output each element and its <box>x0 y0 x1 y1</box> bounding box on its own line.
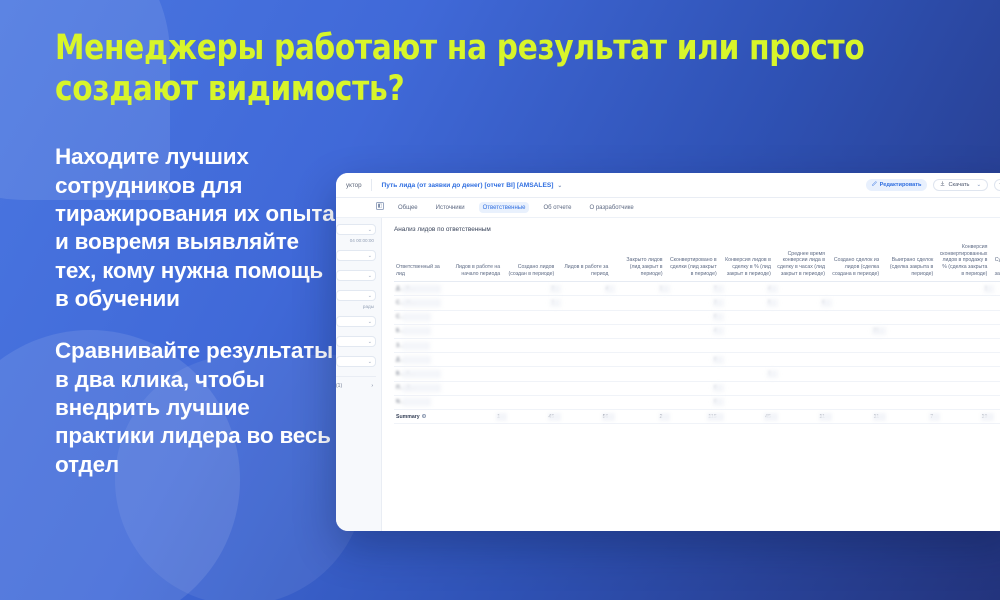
cell-metric <box>558 395 612 409</box>
sidebar-expand-label: (1) <box>336 383 342 389</box>
cell-metric <box>612 339 666 353</box>
cell-metric <box>775 310 829 324</box>
column-header-responsible[interactable]: Ответственный за лид <box>394 244 450 282</box>
cell-responsible: N… <box>394 395 450 409</box>
cell-metric <box>450 282 504 296</box>
column-header-won-sum[interactable]: Сумма выигранных сделок (сделка закрыта … <box>991 244 1000 282</box>
cell-responsible: Д… В… <box>394 282 450 296</box>
summary-row: Summaryi14556211545111171934 <box>394 409 1000 423</box>
cell-metric: 7 <box>667 282 721 296</box>
cell-metric: 3 <box>504 282 558 296</box>
cell-metric <box>829 296 883 310</box>
cell-metric <box>883 367 937 381</box>
filter-select-4[interactable]: ⌄ <box>336 290 376 301</box>
cell-metric <box>883 310 937 324</box>
cell-metric <box>775 324 829 338</box>
cell-metric <box>612 296 666 310</box>
cell-metric <box>829 353 883 367</box>
cell-metric <box>829 381 883 395</box>
column-header-leads-in-work[interactable]: Лидов в работе за период <box>558 244 612 282</box>
table-row[interactable]: Д… В…341741 <box>394 282 1000 296</box>
column-header-leads-start[interactable]: Лидов в работе на начало периода <box>450 244 504 282</box>
promo-paragraph-1: Находите лучших сотрудников для тиражиро… <box>55 143 337 313</box>
cell-metric: 5 <box>721 296 775 310</box>
app-screenshot-panel: уктор Путь лида (от заявки до денег) [от… <box>336 173 1000 531</box>
cell-metric <box>883 381 937 395</box>
table-body: Д… В…341741С… Н…1356224С…0Б…421З…1Д…0В… … <box>394 282 1000 424</box>
cell-metric: 1 <box>504 296 558 310</box>
cell-metric <box>612 367 666 381</box>
promo-paragraph-2: Сравнивайте результаты в два клика, чтоб… <box>55 337 337 479</box>
cell-metric <box>937 353 991 367</box>
constructor-label[interactable]: уктор <box>336 182 371 189</box>
filter-select-3[interactable]: ⌄ <box>336 270 376 281</box>
tab-o-razrabotchike[interactable]: О разработчике <box>585 202 637 213</box>
cell-metric: 0 <box>667 353 721 367</box>
app-tabbar: ◧ Общее Источники Ответственные Об отчет… <box>336 198 1000 218</box>
filter-select-1[interactable]: ⌄ <box>336 224 376 235</box>
table-row[interactable]: П… Д…0 <box>394 381 1000 395</box>
table-header-row: Ответственный за лид Лидов в работе на н… <box>394 244 1000 282</box>
topbar-actions: Редактировать Скачать ⌄ <box>866 179 1000 191</box>
cell-metric <box>883 296 937 310</box>
tab-otvetstvennye[interactable]: Ответственные <box>479 202 530 213</box>
cell-metric <box>829 339 883 353</box>
cell-metric <box>775 381 829 395</box>
cell-responsible: С… Н… <box>394 296 450 310</box>
cell-metric: 21 <box>829 324 883 338</box>
cell-metric <box>504 395 558 409</box>
chevron-down-icon[interactable]: ⌄ <box>557 183 562 189</box>
summary-cell: 19 <box>937 409 991 423</box>
filter-group-note: рады <box>336 304 376 309</box>
lead-analysis-table: Ответственный за лид Лидов в работе на н… <box>394 244 1000 424</box>
cell-metric <box>937 367 991 381</box>
cell-metric <box>612 395 666 409</box>
cell-metric <box>991 310 1000 324</box>
summary-label: Summaryi <box>394 409 450 423</box>
cell-metric <box>937 381 991 395</box>
table-row[interactable]: С…0 <box>394 310 1000 324</box>
app-body: ⌄ 04 00:00:00 ⌄ ⌄ ⌄ рады ⌄ ⌄ ⌄ (1) › Ана… <box>336 218 1000 531</box>
summary-cell: 2 <box>612 409 666 423</box>
filter-select-7[interactable]: ⌄ <box>336 356 376 367</box>
cell-metric <box>558 367 612 381</box>
cell-metric <box>775 282 829 296</box>
cell-metric: 3 <box>667 296 721 310</box>
cell-metric <box>558 324 612 338</box>
cell-metric <box>504 353 558 367</box>
cell-metric <box>504 381 558 395</box>
cell-metric <box>721 395 775 409</box>
cell-metric: 1 <box>721 367 775 381</box>
column-header-deals-created[interactable]: Создано сделок из лидов (сделка создана … <box>829 244 883 282</box>
cell-metric: 1 <box>937 282 991 296</box>
summary-cell: 56 <box>558 409 612 423</box>
cell-metric <box>991 395 1000 409</box>
tab-ob-otchete[interactable]: Об отчете <box>539 202 575 213</box>
cell-metric <box>558 296 612 310</box>
cell-metric: 0 <box>667 381 721 395</box>
tab-list: Общее Источники Ответственные Об отчете … <box>394 202 638 213</box>
cell-metric <box>937 324 991 338</box>
cell-metric <box>775 367 829 381</box>
column-header-sale-conversion[interactable]: Конверсия сконвертированных лидов в прод… <box>937 244 991 282</box>
cell-metric: 0 <box>667 395 721 409</box>
download-button[interactable]: Скачать ⌄ <box>933 179 988 191</box>
report-title[interactable]: Путь лида (от заявки до денег) [отчет BI… <box>382 182 562 189</box>
cell-metric <box>937 310 991 324</box>
cell-metric <box>450 339 504 353</box>
table-row[interactable]: Д…0 <box>394 353 1000 367</box>
share-button[interactable] <box>994 179 1000 191</box>
cell-metric <box>883 339 937 353</box>
cell-metric <box>504 324 558 338</box>
cell-metric <box>612 353 666 367</box>
column-header-lead-to-deal-conversion[interactable]: Конверсия лидов в сделку в % (лид закрыт… <box>721 244 775 282</box>
column-header-deals-won[interactable]: Выиграно сделок (сделка закрыта в период… <box>883 244 937 282</box>
cell-metric <box>883 324 937 338</box>
cell-metric: 4 <box>721 282 775 296</box>
cell-metric <box>450 296 504 310</box>
cell-responsible: Д… <box>394 353 450 367</box>
cell-metric <box>829 310 883 324</box>
cell-metric <box>829 395 883 409</box>
cell-metric: 22 <box>991 296 1000 310</box>
summary-cell: 7 <box>883 409 937 423</box>
cell-metric <box>883 282 937 296</box>
download-button-label: Скачать <box>948 182 969 188</box>
download-icon <box>940 181 945 189</box>
table-row[interactable]: Б…421 <box>394 324 1000 338</box>
cell-metric <box>721 310 775 324</box>
cell-metric <box>991 367 1000 381</box>
cell-metric <box>721 339 775 353</box>
cell-metric: 1 <box>612 282 666 296</box>
chevron-right-icon: › <box>371 383 373 389</box>
cell-metric <box>721 324 775 338</box>
cell-metric <box>991 381 1000 395</box>
cell-metric <box>937 395 991 409</box>
cell-responsible: П… Д… <box>394 381 450 395</box>
cell-metric: 6 <box>775 296 829 310</box>
cell-metric <box>558 353 612 367</box>
cell-metric <box>558 339 612 353</box>
cell-metric: 4 <box>558 282 612 296</box>
cell-metric <box>775 339 829 353</box>
column-header-leads-created[interactable]: Создано лидов (создан в периоде) <box>504 244 558 282</box>
cell-metric <box>450 310 504 324</box>
column-header-leads-closed[interactable]: Закрыто лидов (лид закрыт в периоде) <box>612 244 666 282</box>
column-header-converted-to-deals[interactable]: Сконвертировано в сделки (лид закрыт в п… <box>667 244 721 282</box>
cell-metric <box>612 324 666 338</box>
filter-select-6[interactable]: ⌄ <box>336 336 376 347</box>
cell-metric <box>991 324 1000 338</box>
app-topbar: уктор Путь лида (от заявки до денег) [от… <box>336 173 1000 198</box>
promo-headline: Менеджеры работают на результат или прос… <box>55 28 873 109</box>
cell-metric: 1 <box>991 339 1000 353</box>
table-row[interactable]: N…0 <box>394 395 1000 409</box>
cell-responsible: З… <box>394 339 450 353</box>
cell-metric <box>450 395 504 409</box>
cell-metric <box>991 353 1000 367</box>
filter-select-2[interactable]: ⌄ <box>336 250 376 261</box>
summary-cell: 115 <box>667 409 721 423</box>
summary-cell: 1 <box>450 409 504 423</box>
cell-metric <box>667 339 721 353</box>
cell-metric <box>504 367 558 381</box>
cell-metric <box>721 381 775 395</box>
cell-metric <box>450 353 504 367</box>
report-heading: Анализ лидов по ответственным <box>394 226 1000 233</box>
info-icon[interactable]: i <box>422 414 426 418</box>
table-row[interactable]: С… Н…1356224 <box>394 296 1000 310</box>
topbar-divider <box>371 179 372 191</box>
table-row[interactable]: З…1 <box>394 339 1000 353</box>
cell-metric <box>504 339 558 353</box>
summary-cell: 45 <box>504 409 558 423</box>
cell-metric <box>612 381 666 395</box>
tab-istochniki[interactable]: Источники <box>432 202 469 213</box>
report-area: Анализ лидов по ответственным Ответствен… <box>382 218 1000 531</box>
cell-metric <box>450 381 504 395</box>
cell-metric <box>612 310 666 324</box>
cell-metric <box>937 296 991 310</box>
cell-metric <box>775 395 829 409</box>
filters-sidebar: ⌄ 04 00:00:00 ⌄ ⌄ ⌄ рады ⌄ ⌄ ⌄ (1) › <box>336 218 382 531</box>
cell-metric <box>883 353 937 367</box>
cell-metric <box>937 339 991 353</box>
cell-metric: 0 <box>667 310 721 324</box>
edit-button[interactable]: Редактировать <box>866 179 928 191</box>
tab-obshchee[interactable]: Общее <box>394 202 422 213</box>
report-title-text: Путь лида (от заявки до денег) [отчет BI… <box>382 182 554 189</box>
edit-button-label: Редактировать <box>880 182 922 188</box>
cell-metric <box>450 367 504 381</box>
cell-metric <box>450 324 504 338</box>
cell-metric <box>504 310 558 324</box>
filter-date-note: 04 00:00:00 <box>336 238 376 243</box>
cell-responsible: В… А… <box>394 367 450 381</box>
summary-cell: 11 <box>829 409 883 423</box>
cell-responsible: Б… <box>394 324 450 338</box>
cell-metric <box>721 353 775 367</box>
collapse-panel-icon[interactable]: ◧ <box>376 202 384 210</box>
cell-metric <box>829 282 883 296</box>
cell-metric <box>558 381 612 395</box>
promo-body: Находите лучших сотрудников для тиражиро… <box>55 143 337 479</box>
sidebar-expand-link[interactable]: (1) › <box>336 376 376 389</box>
cell-metric <box>775 353 829 367</box>
chevron-down-icon: ⌄ <box>976 182 981 188</box>
column-header-avg-conversion-time[interactable]: Среднее время конверсии лида в сделку в … <box>775 244 829 282</box>
table-row[interactable]: В… А…1 <box>394 367 1000 381</box>
cell-metric: 4 <box>667 324 721 338</box>
filter-select-5[interactable]: ⌄ <box>336 316 376 327</box>
cell-metric <box>667 367 721 381</box>
summary-cell: 11 <box>775 409 829 423</box>
cell-metric <box>883 395 937 409</box>
cell-metric <box>829 367 883 381</box>
cell-metric <box>558 310 612 324</box>
summary-cell: 45 <box>721 409 775 423</box>
cell-responsible: С… <box>394 310 450 324</box>
pencil-icon <box>872 181 877 189</box>
